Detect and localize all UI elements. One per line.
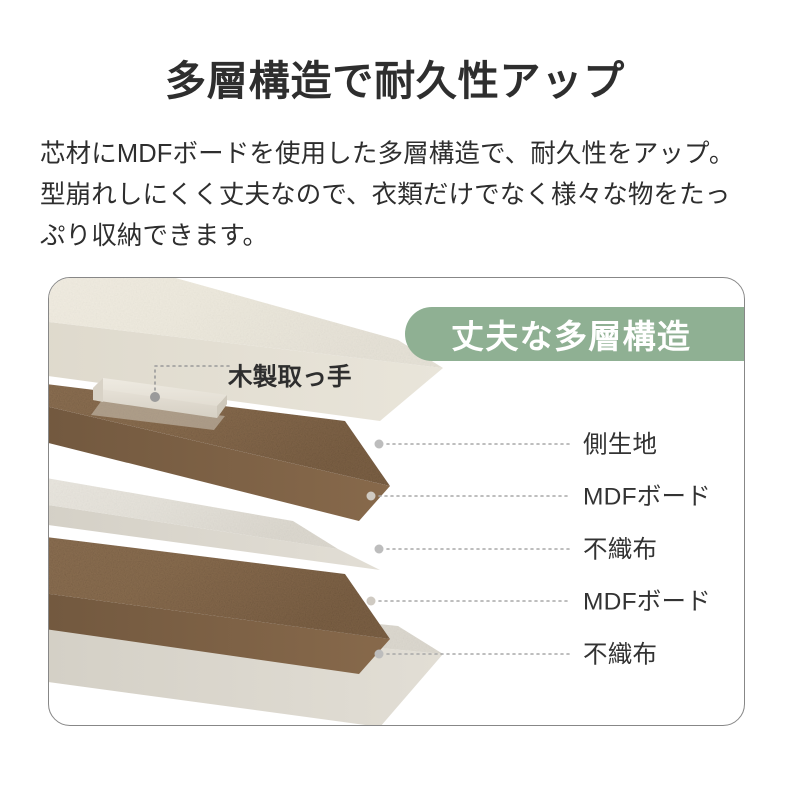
handle-callout-label: 木製取っ手 (228, 358, 352, 393)
leader-dot-5 (375, 650, 384, 659)
handle-callout-dot (150, 392, 160, 402)
layer-label-3: 不織布 (583, 531, 657, 566)
leader-dot-2 (367, 492, 376, 501)
layer-label-1: 側生地 (583, 426, 657, 461)
layer-label-5: 不織布 (583, 636, 657, 671)
section-badge-label: 丈夫な多層構造 (451, 310, 691, 358)
section-badge: 丈夫な多層構造 (405, 307, 745, 361)
leader-lines (367, 440, 570, 659)
leader-dot-1 (375, 440, 384, 449)
page-title: 多層構造で耐久性アップ (0, 57, 790, 106)
leader-dot-4 (367, 597, 376, 606)
layer-label-2: MDFボード (583, 478, 711, 513)
leader-dot-3 (375, 545, 384, 554)
layer-1-side-fabric (49, 278, 443, 430)
page-description: 芯材にMDFボードを使用した多層構造で、耐久性をアップ。型崩れしにくく丈夫なので… (40, 134, 754, 258)
layer-label-4: MDFボード (583, 583, 711, 618)
